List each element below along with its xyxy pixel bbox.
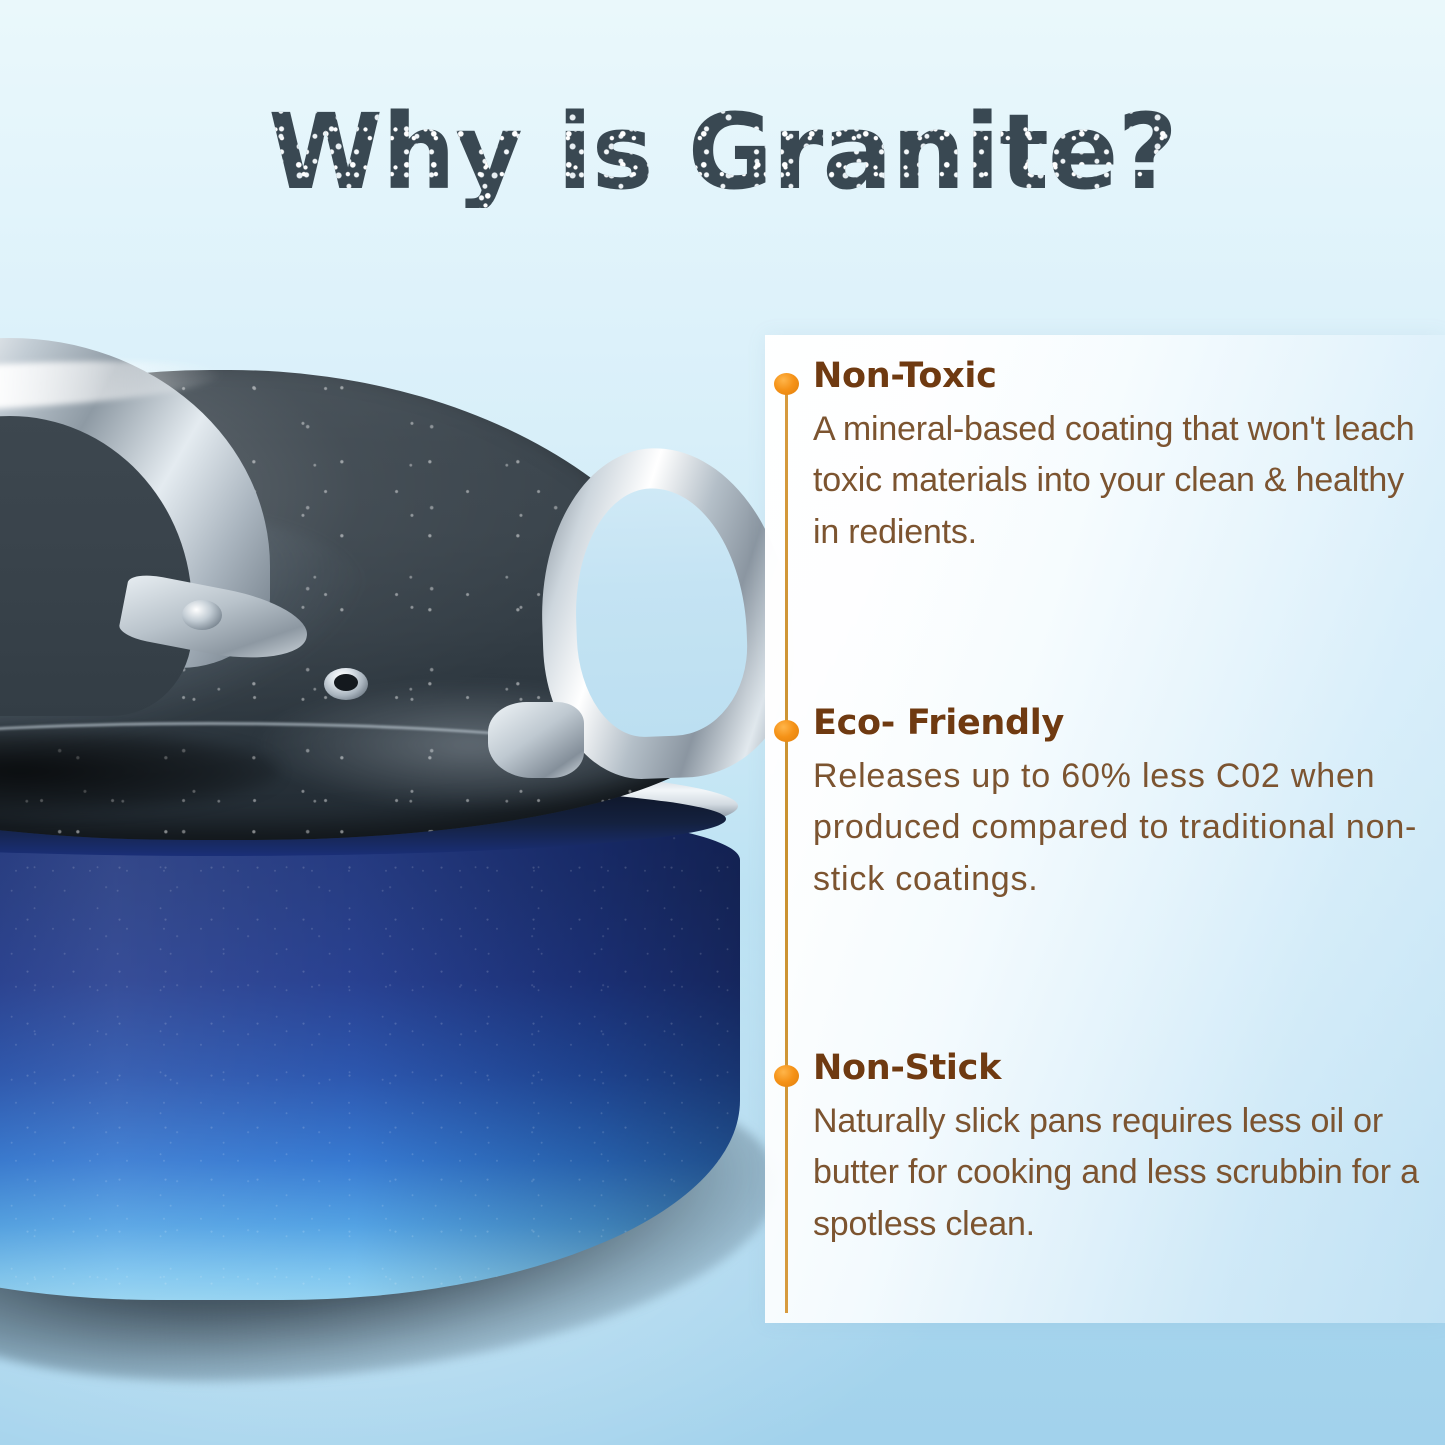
bullet-dot-icon-2 (774, 720, 799, 742)
timeline-spine (785, 383, 788, 1313)
feature-heading-non-stick: Non-Stick (813, 1049, 1425, 1088)
feature-item-eco-friendly: Eco- Friendly Releases up to 60% less C0… (813, 704, 1425, 906)
product-image-stock-pot (0, 330, 760, 1340)
feature-body-non-toxic: A mineral-based coating that won't leach… (813, 404, 1425, 559)
product-infographic: Why is Granite? Non-Toxic A mineral-base… (0, 0, 1445, 1445)
pot-body-speckle-texture (0, 800, 740, 1300)
bullet-dot-icon-1 (774, 373, 799, 395)
side-handle-mount (488, 702, 584, 778)
steam-vent-hole (334, 674, 358, 691)
feature-item-non-stick: Non-Stick Naturally slick pans requires … (813, 1049, 1425, 1251)
lid-handle-rivet (182, 600, 222, 630)
feature-body-non-stick: Naturally slick pans requires less oil o… (813, 1096, 1425, 1251)
pot-body (0, 800, 740, 1300)
feature-heading-non-toxic: Non-Toxic (813, 357, 1425, 396)
feature-item-non-toxic: Non-Toxic A mineral-based coating that w… (813, 357, 1425, 559)
page-title-container: Why is Granite? (0, 96, 1445, 208)
lid-handle-icon (0, 338, 270, 668)
feature-heading-eco-friendly: Eco- Friendly (813, 704, 1425, 743)
bullet-dot-icon-3 (774, 1065, 799, 1087)
feature-body-eco-friendly: Releases up to 60% less C02 when produce… (813, 751, 1425, 906)
features-panel-inner: Non-Toxic A mineral-based coating that w… (765, 335, 1445, 1323)
features-panel: Non-Toxic A mineral-based coating that w… (765, 335, 1445, 1323)
page-title: Why is Granite? (268, 96, 1177, 208)
